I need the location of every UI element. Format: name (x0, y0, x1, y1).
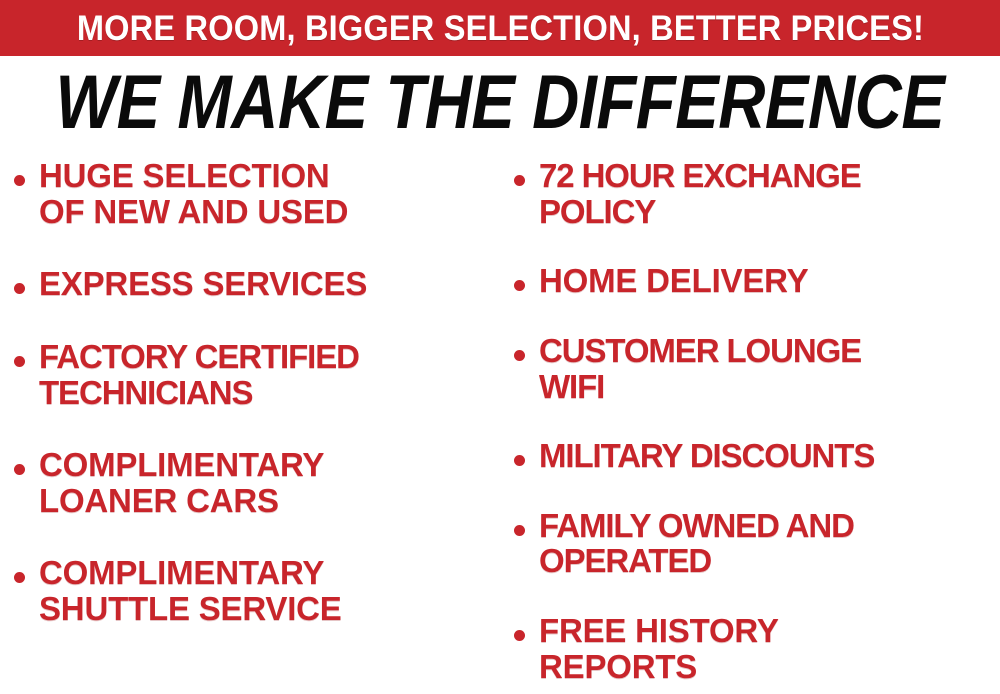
list-item-label: EXPRESS SERVICES (39, 266, 367, 302)
list-item: CUSTOMER LOUNGE WIFI (514, 333, 1000, 404)
promo-poster: MORE ROOM, BIGGER SELECTION, BETTER PRIC… (0, 0, 1000, 694)
list-item-label: COMPLIMENTARY SHUTTLE SERVICE (39, 555, 342, 626)
bullet-dot-icon (14, 175, 25, 186)
benefits-columns: HUGE SELECTION OF NEW AND USED EXPRESS S… (0, 158, 1000, 694)
benefits-column-right: 72 HOUR EXCHANGE POLICY HOME DELIVERY CU… (514, 158, 1000, 694)
list-item: EXPRESS SERVICES (14, 266, 500, 302)
list-item: 72 HOUR EXCHANGE POLICY (514, 158, 1000, 229)
bullet-dot-icon (14, 572, 25, 583)
list-item: MILITARY DISCOUNTS (514, 438, 1000, 474)
top-banner-text: MORE ROOM, BIGGER SELECTION, BETTER PRIC… (76, 11, 923, 46)
list-item-label: FAMILY OWNED AND OPERATED (539, 508, 854, 579)
bullet-dot-icon (514, 630, 525, 641)
page-title: WE MAKE THE DIFFERENCE (56, 64, 945, 140)
list-item-label: MILITARY DISCOUNTS (539, 438, 874, 474)
list-item: COMPLIMENTARY LOANER CARS (14, 447, 500, 518)
list-item: FACTORY CERTIFIED TECHNICIANS (14, 339, 500, 410)
headline-container: WE MAKE THE DIFFERENCE (0, 62, 1000, 142)
list-item-label: CUSTOMER LOUNGE WIFI (539, 333, 861, 404)
bullet-dot-icon (514, 280, 525, 291)
list-item: HUGE SELECTION OF NEW AND USED (14, 158, 500, 229)
list-item-label: FACTORY CERTIFIED TECHNICIANS (39, 339, 359, 410)
bullet-dot-icon (514, 350, 525, 361)
bullet-dot-icon (514, 175, 525, 186)
list-item-label: HOME DELIVERY (539, 263, 808, 299)
top-banner: MORE ROOM, BIGGER SELECTION, BETTER PRIC… (0, 0, 1000, 56)
bullet-dot-icon (14, 356, 25, 367)
list-item: FREE HISTORY REPORTS (514, 613, 1000, 684)
list-item-label: COMPLIMENTARY LOANER CARS (39, 447, 324, 518)
bullet-dot-icon (514, 525, 525, 536)
bullet-dot-icon (14, 283, 25, 294)
benefits-column-left: HUGE SELECTION OF NEW AND USED EXPRESS S… (14, 158, 500, 694)
bullet-dot-icon (514, 455, 525, 466)
list-item: FAMILY OWNED AND OPERATED (514, 508, 1000, 579)
list-item-label: FREE HISTORY REPORTS (539, 613, 779, 684)
list-item-label: 72 HOUR EXCHANGE POLICY (539, 158, 861, 229)
list-item-label: HUGE SELECTION OF NEW AND USED (39, 158, 348, 229)
bullet-dot-icon (14, 464, 25, 475)
list-item: COMPLIMENTARY SHUTTLE SERVICE (14, 555, 500, 626)
list-item: HOME DELIVERY (514, 263, 1000, 299)
